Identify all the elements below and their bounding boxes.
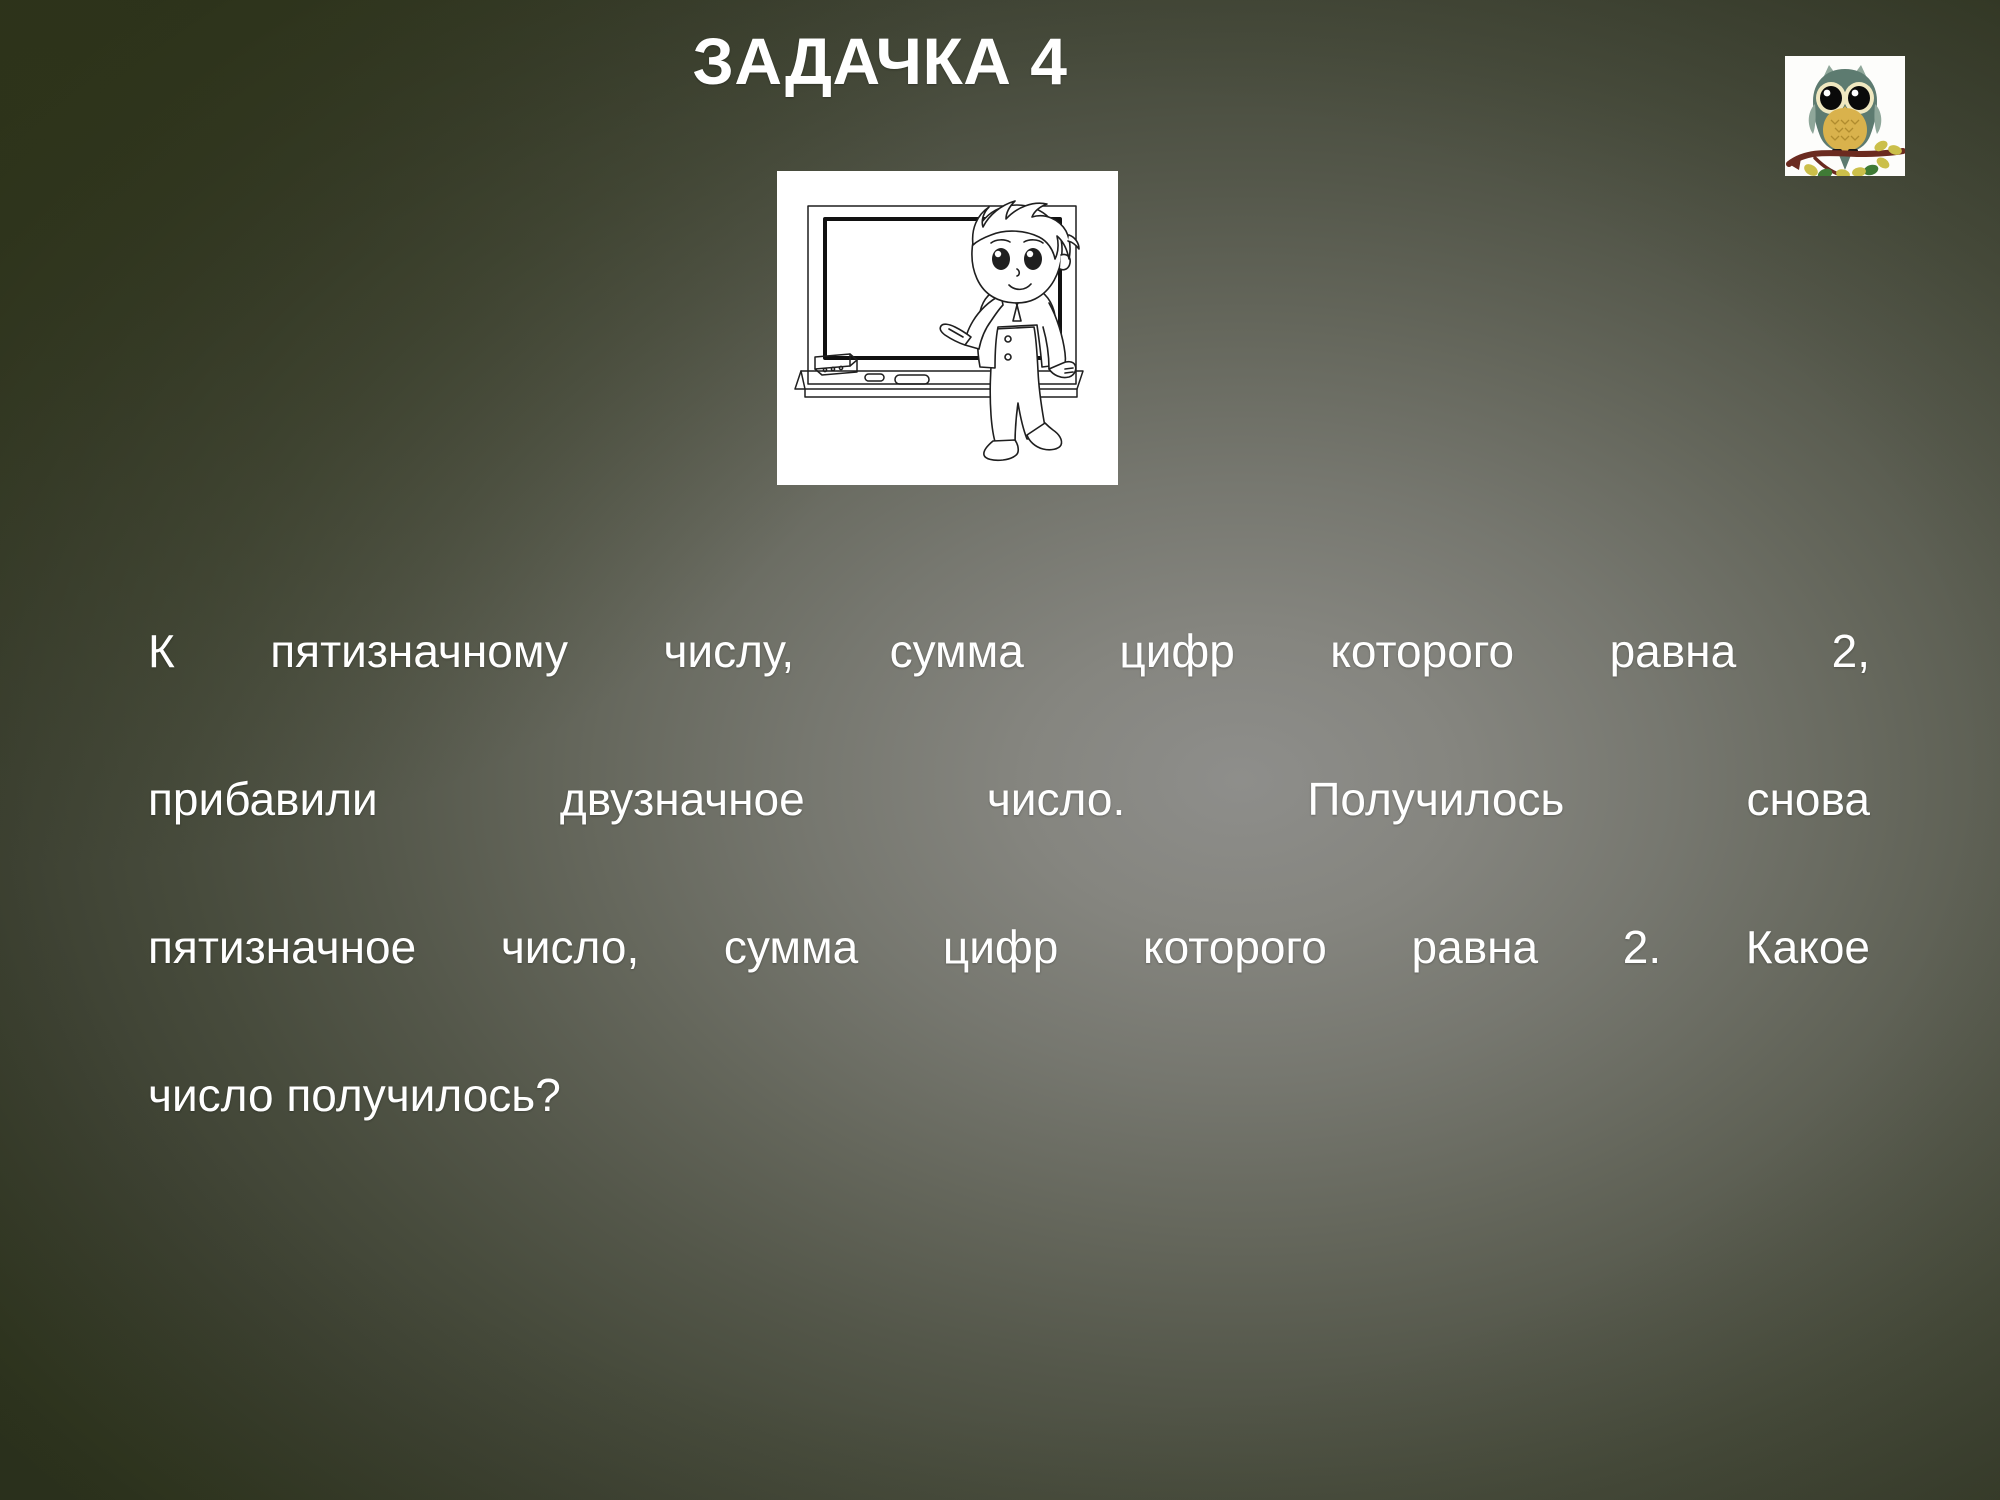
problem-line: пятизначное число, сумма цифр которого р… [148, 910, 1870, 1058]
problem-statement: К пятизначному числу, сумма цифр которог… [148, 614, 1870, 1132]
owl-on-branch-icon [1785, 56, 1905, 176]
problem-line: К пятизначному числу, сумма цифр которог… [148, 614, 1870, 762]
presentation-slide: ЗАДАЧКА 4 [0, 0, 2000, 1500]
boy-at-blackboard-illustration [777, 171, 1118, 485]
problem-line: прибавили двузначное число. Получилось с… [148, 762, 1870, 910]
board-illustration [777, 171, 1118, 485]
slide-title: ЗАДАЧКА 4 [0, 26, 1760, 97]
problem-line: число получилось? [148, 1058, 1870, 1132]
owl-logo [1785, 56, 1905, 176]
